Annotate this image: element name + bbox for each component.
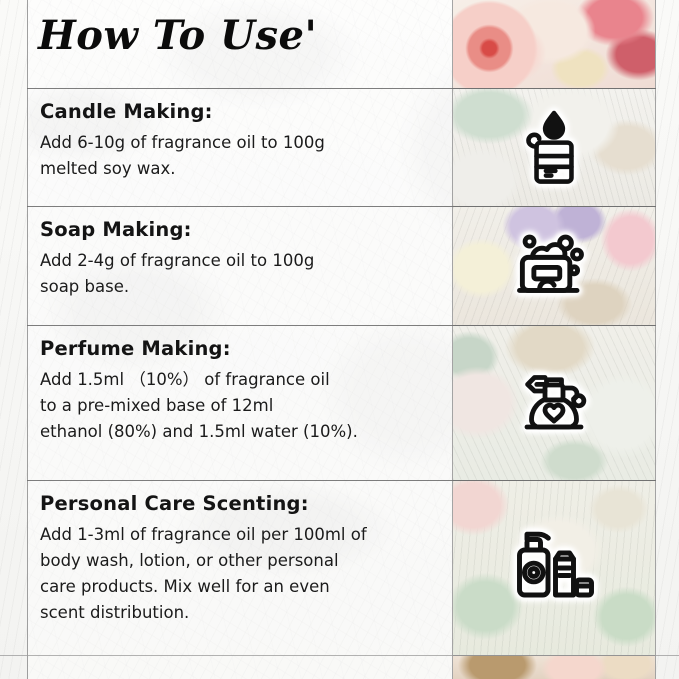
body-line: care products. Mix well for an even [40,574,450,600]
section-body: Add 1-3ml of fragrance oil per 100ml of … [40,522,450,626]
photo-band-candle [453,89,655,206]
soap-bar-icon [453,207,655,325]
photo-band-perfume [453,326,655,480]
section-soap-making: Soap Making: Add 2-4g of fragrance oil t… [40,218,450,300]
candle-icon [453,89,655,206]
photo-band-soap [453,207,655,325]
body-line: Add 2-4g of fragrance oil to 100g [40,248,450,274]
right-margin-strip [655,0,679,679]
body-line: ethanol (80%) and 1.5ml water (10%). [40,419,450,445]
section-heading: Personal Care Scenting: [40,492,450,515]
body-line: Add 6-10g of fragrance oil to 100g [40,130,450,156]
left-margin-strip [0,0,27,679]
instruction-text-column: How To Use' Candle Making: Add 6-10g of … [28,0,453,679]
section-heading: Perfume Making: [40,337,450,360]
section-candle-making: Candle Making: Add 6-10g of fragrance oi… [40,100,450,182]
section-heading: Soap Making: [40,218,450,241]
section-body: Add 2-4g of fragrance oil to 100g soap b… [40,248,450,300]
photo-band-bottom-floral [453,656,655,679]
body-line: Add 1-3ml of fragrance oil per 100ml of [40,522,450,548]
perfume-bottle-icon [453,326,655,480]
body-line: body wash, lotion, or other personal [40,548,450,574]
section-body: Add 1.5ml （10%） of fragrance oil to a pr… [40,367,450,445]
section-heading: Candle Making: [40,100,450,123]
section-body: Add 6-10g of fragrance oil to 100g melte… [40,130,450,182]
body-line: scent distribution. [40,600,450,626]
body-line: soap base. [40,274,450,300]
lotion-bottle-icon [453,481,655,655]
body-line: Add 1.5ml （10%） of fragrance oil [40,367,450,393]
body-line: to a pre-mixed base of 12ml [40,393,450,419]
body-line: melted soy wax. [40,156,450,182]
icon-photo-column [453,0,655,679]
how-to-use-infographic: How To Use' Candle Making: Add 6-10g of … [0,0,679,679]
page-title: How To Use' [38,12,317,59]
photo-column-right-rule [655,0,656,679]
section-personal-care-scenting: Personal Care Scenting: Add 1-3ml of fra… [40,492,450,626]
photo-band-personal-care [453,481,655,655]
photo-band-top-floral [453,0,655,88]
section-perfume-making: Perfume Making: Add 1.5ml （10%） of fragr… [40,337,450,445]
